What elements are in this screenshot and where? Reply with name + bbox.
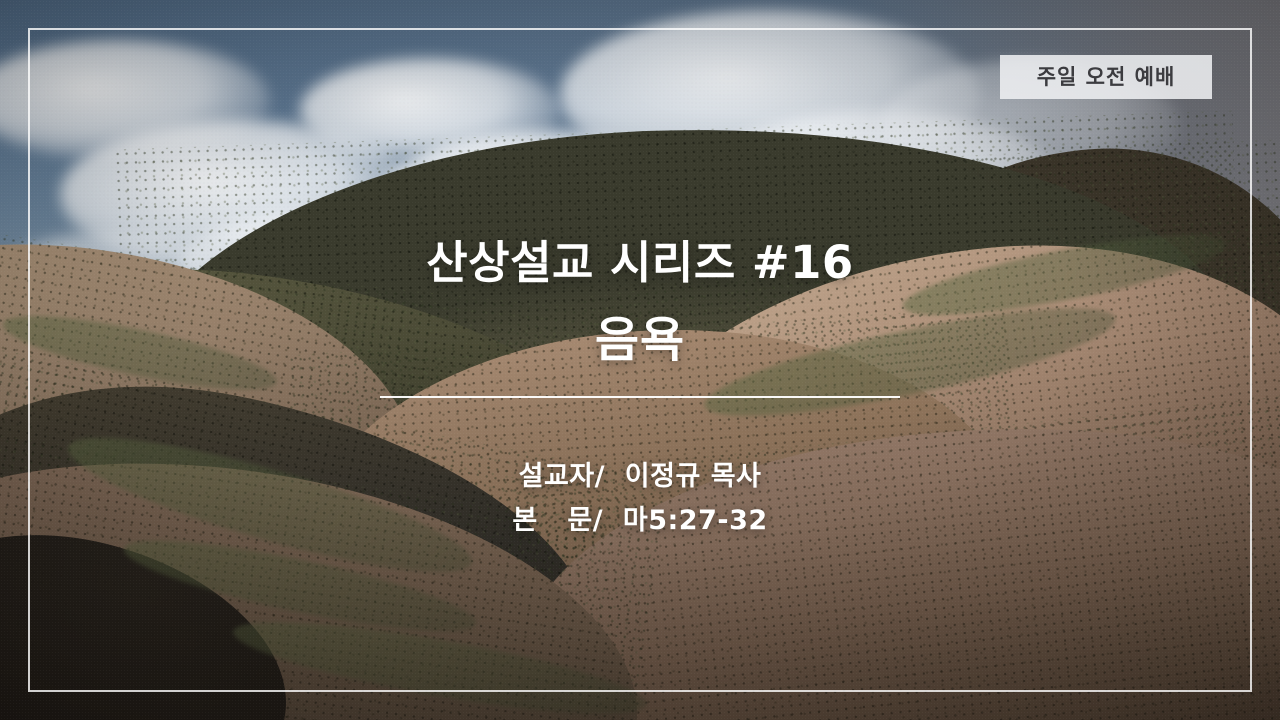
service-type-label: 주일 오전 예배 [1037, 67, 1176, 88]
background-photo [0, 0, 1280, 720]
service-type-badge: 주일 오전 예배 [1000, 55, 1212, 99]
sermon-slide: 주일 오전 예배 산상설교 시리즈 #16 음욕 설교자/ 이정규 목사 본 문… [0, 0, 1280, 720]
